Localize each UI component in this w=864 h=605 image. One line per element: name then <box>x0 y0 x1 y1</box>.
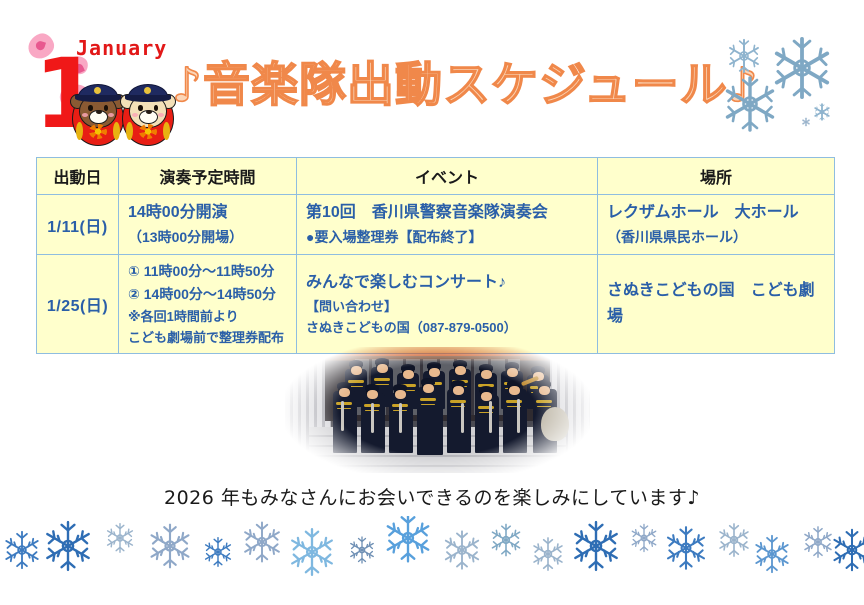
table-header-row: 出動日 演奏予定時間 イベント 場所 <box>37 158 835 195</box>
clarinet-icon <box>489 401 492 433</box>
time-line: 14時00分開演 <box>128 200 287 226</box>
police-cap-badge <box>94 87 101 94</box>
place-line: さぬきこどもの国 こども劇場 <box>607 278 825 330</box>
snowflake-icon <box>6 532 38 568</box>
cell-place: さぬきこどもの国 こども劇場 <box>598 255 835 354</box>
bear-cheek-right <box>108 113 114 117</box>
daruma-crest-pattern <box>89 124 107 139</box>
snowflake-icon <box>534 538 562 570</box>
cell-event: 第10回 香川県警察音楽隊演奏会 ●要入場整理券【配布終了】 <box>297 195 598 255</box>
column-header-event: イベント <box>297 158 598 195</box>
event-line: ●要入場整理券【配布終了】 <box>306 226 588 249</box>
clarinet-icon <box>399 403 402 433</box>
snowflake-icon <box>777 39 827 97</box>
bear-cheek-right <box>158 113 164 117</box>
clarinet-icon <box>341 401 344 431</box>
daruma-crest-pattern <box>139 124 157 139</box>
police-cap-brim <box>125 95 171 102</box>
bear-nose <box>146 110 152 114</box>
month-badge: 1 January <box>14 32 189 137</box>
daruma-bear-cream-icon <box>122 82 174 146</box>
column-header-time: 演奏予定時間 <box>119 158 297 195</box>
snowflake-icon <box>815 104 829 120</box>
bear-eye-left <box>88 105 93 111</box>
daruma-side-pattern-left <box>76 122 83 140</box>
snowflake-icon <box>668 527 704 569</box>
snowflake-icon <box>206 538 231 567</box>
time-line: ② 14時00分～14時50分 <box>128 283 287 306</box>
snowflake-icon <box>446 531 478 568</box>
bear-eye-right <box>104 105 109 111</box>
band-member <box>417 387 443 455</box>
event-line: 第10回 香川県警察音楽隊演奏会 <box>306 200 588 226</box>
cell-date: 1/11(日) <box>37 195 119 255</box>
snowflake-icon <box>805 527 831 557</box>
daruma-side-pattern-right <box>113 122 120 140</box>
snowflake-icon <box>152 525 189 568</box>
bear-cheek-left <box>82 113 88 117</box>
event-line: 【問い合わせ】 <box>306 296 588 317</box>
snowflake-icon <box>720 524 748 556</box>
event-line: さぬきこどもの国（087-879-0500） <box>306 317 588 338</box>
daruma-side-pattern-left <box>126 122 133 140</box>
footer-message: 2026 年もみなさんにお会いできるのを楽しみにしています♪ <box>0 483 864 510</box>
snowflake-icon <box>47 522 88 570</box>
police-cap-brim <box>75 95 121 102</box>
flute-icon <box>461 403 464 433</box>
clarinet-icon <box>517 399 520 433</box>
police-band-photo <box>285 347 590 473</box>
bear-nose <box>96 110 102 114</box>
time-line: ※各回1時間前より <box>128 306 287 327</box>
column-header-place: 場所 <box>598 158 835 195</box>
snowflake-icon <box>803 118 809 125</box>
page-title: ♪音楽隊出動スケジュール♪ <box>172 56 759 116</box>
cell-time: ① 11時00分～11時50分 ② 14時00分～14時50分 ※各回1時間前よ… <box>119 255 297 354</box>
snowflake-icon <box>632 524 655 551</box>
cell-date: 1/25(日) <box>37 255 119 354</box>
place-line: （香川県県民ホール） <box>607 226 825 249</box>
cell-event: みんなで楽しむコンサート♪ 【問い合わせ】 さぬきこどもの国（087-879-0… <box>297 255 598 354</box>
month-label: January <box>76 36 167 60</box>
snowflake-cluster-icon <box>706 26 856 138</box>
band-member <box>333 391 357 453</box>
snowflake-border-band <box>0 516 864 596</box>
band-member <box>475 395 499 453</box>
time-line: こども劇場前で整理券配布 <box>128 327 287 348</box>
snowflake-icon <box>245 523 279 562</box>
bear-cheek-left <box>132 113 138 117</box>
snowflake-icon <box>388 516 429 561</box>
band-member <box>447 389 471 453</box>
tuba-icon <box>541 407 569 441</box>
cell-place: レクザムホール 大ホール （香川県県民ホール） <box>598 195 835 255</box>
column-header-date: 出動日 <box>37 158 119 195</box>
snowflake-icon <box>756 536 788 572</box>
snowflake-icon <box>730 40 758 72</box>
snowflake-icon <box>575 522 616 570</box>
snowflake-icon <box>493 524 520 555</box>
table-row: 1/11(日) 14時00分開演 （13時00分開場） 第10回 香川県警察音楽… <box>37 195 835 255</box>
table-row: 1/25(日) ① 11時00分～11時50分 ② 14時00分～14時50分 … <box>37 255 835 354</box>
snowflake-icon <box>834 530 864 571</box>
cell-time: 14時00分開演 （13時00分開場） <box>119 195 297 255</box>
event-line: みんなで楽しむコンサート♪ <box>306 270 588 296</box>
bear-eye-left <box>138 105 143 111</box>
clarinet-icon <box>371 403 374 433</box>
time-line: ① 11時00分～11時50分 <box>128 260 287 283</box>
place-line: レクザムホール 大ホール <box>607 200 825 226</box>
snowflake-icon <box>108 524 133 553</box>
daruma-side-pattern-right <box>163 122 170 140</box>
snowflake-icon <box>351 537 374 563</box>
snowflake-icon <box>292 529 332 575</box>
schedule-table: 出動日 演奏予定時間 イベント 場所 1/11(日) 14時00分開演 （13時… <box>36 157 835 354</box>
daruma-bear-brown-icon <box>72 82 124 146</box>
bear-eye-right <box>154 105 159 111</box>
snowflake-icon <box>728 78 773 130</box>
page-header: 1 January <box>0 0 864 150</box>
band-member <box>503 389 527 453</box>
time-line: （13時00分開場） <box>128 226 287 249</box>
police-cap-badge <box>144 87 151 94</box>
